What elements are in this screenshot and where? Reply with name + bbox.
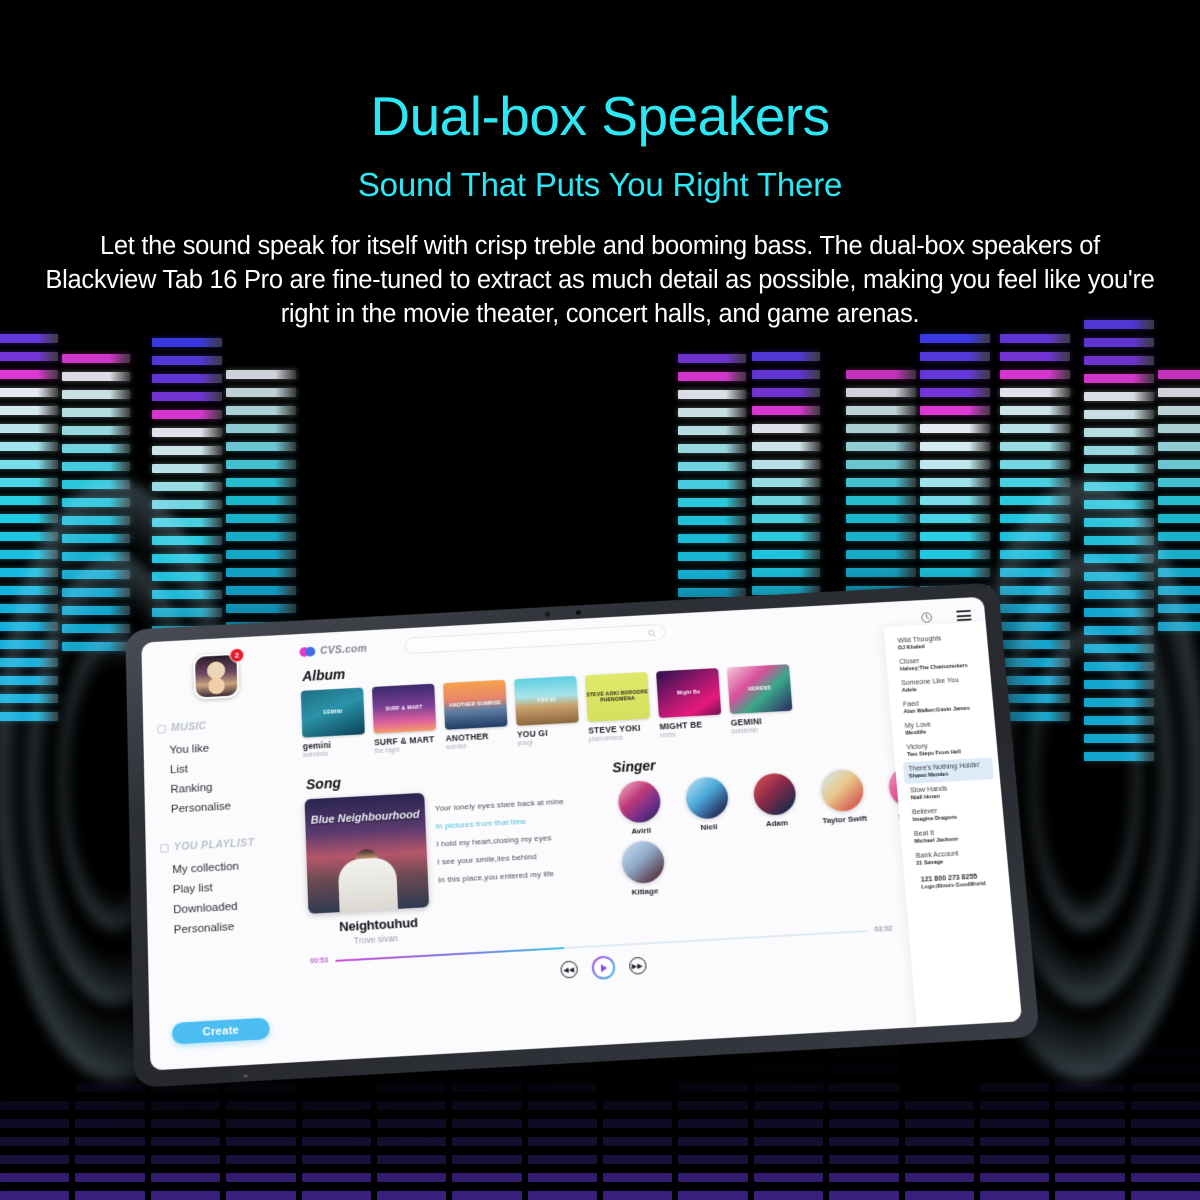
equalizer-bar [1084, 482, 1154, 491]
equalizer-bar [905, 1155, 974, 1164]
equalizer-bar [226, 1083, 295, 1092]
equalizer-bar [226, 1101, 295, 1110]
duration-time: 03:02 [874, 926, 893, 934]
equalizer-bar [226, 1191, 295, 1200]
equalizer-bar [1158, 514, 1200, 523]
equalizer-bar [752, 514, 820, 523]
equalizer-bar [846, 442, 916, 451]
equalizer-bar [1084, 608, 1154, 617]
equalizer-bar [1055, 1065, 1124, 1074]
album-cover[interactable]: GEMINI [301, 688, 365, 738]
lyric-line: I see your smile,lies behind [437, 849, 598, 867]
equalizer-bar [752, 406, 820, 415]
app-sidebar: 2 MUSICYou likeListRankingPersonaliseYOU… [141, 635, 303, 1071]
equalizer-bar [603, 1191, 672, 1200]
lyric-line: Your lonely eyes stare back at mine [435, 795, 595, 813]
equalizer-bar [226, 460, 296, 469]
equalizer-bar [226, 550, 296, 559]
equalizer-bar [62, 606, 130, 615]
sidebar-heading-1: YOU PLAYLIST [160, 835, 296, 854]
singer-card[interactable]: Taylor Swift [814, 768, 872, 825]
equalizer-bar [0, 604, 58, 613]
equalizer-bar [846, 370, 916, 379]
equalizer-bar [377, 1119, 446, 1128]
equalizer-bar [846, 388, 916, 397]
equalizer-bar [377, 1137, 446, 1146]
equalizer-bar [0, 460, 58, 469]
equalizer-bar [452, 1191, 521, 1200]
equalizer-bar [920, 478, 990, 487]
equalizer-bar [752, 496, 820, 505]
equalizer-bar [1084, 428, 1154, 437]
lyric-line: In this place,you entered my life [438, 867, 599, 885]
singer-name: Kitiage [618, 886, 673, 898]
sidebar-heading-0: MUSIC [157, 716, 292, 735]
music-app: 2 MUSICYou likeListRankingPersonaliseYOU… [141, 597, 1022, 1071]
equalizer-bar [152, 428, 222, 437]
equalizer-bar [1158, 568, 1200, 577]
playlist-icon [160, 843, 169, 852]
singer-avatar[interactable] [617, 780, 661, 824]
singer-name: Taylor Swift [817, 814, 872, 826]
equalizer-bar [920, 406, 990, 415]
song-cover-art[interactable]: Blue Neighbourhood [305, 793, 430, 914]
equalizer-bar [0, 1191, 69, 1200]
equalizer-bar [1084, 716, 1154, 725]
equalizer-bar [752, 388, 820, 397]
equalizer-bar [0, 1137, 69, 1146]
equalizer-bar [920, 532, 990, 541]
equalizer-bar [920, 424, 990, 433]
equalizer-bar [152, 554, 222, 563]
singer-card[interactable]: Kitiage [615, 840, 672, 898]
sensor-dot-icon [545, 612, 550, 617]
equalizer-bar [752, 370, 820, 379]
equalizer-bar [846, 460, 916, 469]
equalizer-bar [528, 1119, 597, 1128]
equalizer-bar [1158, 532, 1200, 541]
equalizer-bar [1084, 590, 1154, 599]
equalizer-bar [62, 642, 130, 651]
equalizer-bar [603, 1119, 672, 1128]
equalizer-bar [1000, 388, 1070, 397]
singer-card[interactable]: Adam [746, 772, 804, 829]
tablet-device: 2 MUSICYou likeListRankingPersonaliseYOU… [130, 600, 1020, 1060]
equalizer-bar [829, 1119, 898, 1128]
song-cover-title: Blue Neighbourhood [311, 809, 420, 827]
equalizer-bar [452, 1173, 521, 1182]
equalizer-bar [752, 550, 820, 559]
album-cover[interactable]: STEVE AOKI BOROORE PHENOMENA [585, 672, 650, 722]
album-card[interactable]: GEMINIgeminiswimmin [301, 688, 366, 760]
equalizer-bar [0, 388, 58, 397]
equalizer-bar [1131, 1047, 1200, 1056]
equalizer-bar [151, 1155, 220, 1164]
equalizer-bar [1131, 1137, 1200, 1146]
equalizer-bar [75, 1155, 144, 1164]
equalizer-bar [754, 1137, 823, 1146]
equalizer-bar [0, 532, 58, 541]
equalizer-bar [62, 372, 130, 381]
equalizer-bar [752, 442, 820, 451]
equalizer-bar [1000, 352, 1070, 361]
equalizer-bar [152, 392, 222, 401]
equalizer-bar [846, 424, 916, 433]
equalizer-bar [152, 500, 222, 509]
equalizer-bar [1000, 478, 1070, 487]
music-note-icon [157, 724, 166, 733]
equalizer-bar [752, 424, 820, 433]
equalizer-bar [1084, 734, 1154, 743]
equalizer-bar [1158, 370, 1200, 379]
album-cover[interactable]: Might Be [656, 668, 721, 718]
create-button[interactable]: Create [172, 1018, 270, 1045]
equalizer-bar [1000, 334, 1070, 343]
equalizer-bar [62, 552, 130, 561]
equalizer-column [1084, 320, 1154, 770]
elapsed-time: 00:53 [310, 957, 328, 965]
equalizer-bar [0, 334, 58, 343]
equalizer-bar [62, 516, 130, 525]
equalizer-bar [152, 410, 222, 419]
equalizer-bar [62, 570, 130, 579]
equalizer-bar [754, 1155, 823, 1164]
front-camera-icon [574, 609, 582, 616]
lyric-line: In pictures from that time [435, 813, 595, 831]
equalizer-bar [1084, 572, 1154, 581]
equalizer-bar [152, 446, 222, 455]
equalizer-bar [226, 496, 296, 505]
equalizer-bar [1084, 464, 1154, 473]
equalizer-bar [1000, 442, 1070, 451]
equalizer-bar [678, 480, 746, 489]
equalizer-bar [1000, 514, 1070, 523]
equalizer-bar [0, 622, 58, 631]
equalizer-bar [528, 1083, 597, 1092]
album-cover-text: STEVE AOKI BOROORE PHENOMENA [586, 689, 649, 704]
equalizer-bar [829, 1065, 898, 1074]
equalizer-bar [75, 1191, 144, 1200]
equalizer-bar [829, 1083, 898, 1092]
equalizer-bar [603, 1173, 672, 1182]
singer-avatar[interactable] [685, 776, 730, 820]
equalizer-bar [0, 1119, 69, 1128]
equalizer-bar [920, 370, 990, 379]
equalizer-bar [1084, 518, 1154, 527]
equalizer-bar [1000, 496, 1070, 505]
equalizer-bar [226, 406, 296, 415]
equalizer-bar [528, 1155, 597, 1164]
equalizer-bar [1000, 532, 1070, 541]
equalizer-bar [678, 498, 746, 507]
equalizer-bar [377, 1155, 446, 1164]
equalizer-bar [0, 586, 58, 595]
equalizer-bar [302, 1155, 371, 1164]
equalizer-bar [1131, 1065, 1200, 1074]
equalizer-bar [846, 514, 916, 523]
equalizer-bar [1131, 1173, 1200, 1182]
equalizer-bar [920, 514, 990, 523]
singer-name: Adam [750, 817, 804, 829]
equalizer-bar [1084, 374, 1154, 383]
equalizer-bar [75, 1173, 144, 1182]
equalizer-bar [754, 1191, 823, 1200]
equalizer-bar [1055, 1119, 1124, 1128]
equalizer-bar [0, 676, 58, 685]
equalizer-bar [1131, 1191, 1200, 1200]
equalizer-bar [226, 1173, 295, 1182]
equalizer-bar [1084, 662, 1154, 671]
equalizer-bar [1000, 370, 1070, 379]
equalizer-bar [754, 1083, 823, 1092]
equalizer-bar [1158, 406, 1200, 415]
equalizer-bar [151, 1137, 220, 1146]
equalizer-bar [377, 1173, 446, 1182]
equalizer-bar [75, 1083, 144, 1092]
equalizer-bar [1084, 536, 1154, 545]
equalizer-bar [226, 1155, 295, 1164]
equalizer-bar [678, 372, 746, 381]
equalizer-bar [1055, 1083, 1124, 1092]
equalizer-bar [0, 424, 58, 433]
singer-name: Aviril [614, 825, 668, 837]
equalizer-bar [678, 1173, 747, 1182]
singer-avatar[interactable] [621, 840, 666, 884]
app-logo[interactable]: CVS.com [299, 642, 367, 657]
equalizer-bar [528, 1065, 597, 1074]
equalizer-bar [377, 1101, 446, 1110]
hero-text-block: Dual-box Speakers Sound That Puts You Ri… [0, 0, 1200, 331]
singer-avatar[interactable] [820, 769, 865, 813]
album-card[interactable]: STEVE AOKI BOROORE PHENOMENASTEVE YOKIph… [585, 672, 651, 743]
equalizer-bar [678, 1137, 747, 1146]
album-cover[interactable]: ANOTHER SUNRISE [443, 680, 508, 730]
equalizer-bar [62, 426, 130, 435]
equalizer-bar [62, 408, 130, 417]
equalizer-bar [920, 496, 990, 505]
equalizer-bar [1055, 1155, 1124, 1164]
menu-icon[interactable] [956, 610, 972, 621]
song-column: Song Blue Neighbourhood Your lonely eyes… [303, 752, 600, 915]
equalizer-bar [62, 588, 130, 597]
equalizer-bar [920, 334, 990, 343]
equalizer-bar [1158, 550, 1200, 559]
equalizer-bar [678, 534, 746, 543]
equalizer-bar [678, 1119, 747, 1128]
equalizer-bar [0, 694, 58, 703]
notification-badge: 2 [229, 648, 244, 663]
equalizer-bar [1131, 1119, 1200, 1128]
singer-card[interactable]: Aviril [611, 779, 668, 836]
album-cover-text: GEMINI [323, 709, 343, 716]
equalizer-bar [226, 1137, 295, 1146]
tablet-frame: 2 MUSICYou likeListRankingPersonaliseYOU… [125, 583, 1040, 1088]
equalizer-bar [452, 1137, 521, 1146]
equalizer-bar [0, 640, 58, 649]
previous-button[interactable]: ◀◀ [560, 961, 578, 979]
equalizer-bar [0, 514, 58, 523]
equalizer-bar [62, 498, 130, 507]
equalizer-column [0, 334, 58, 730]
equalizer-bar [829, 1173, 898, 1182]
equalizer-bar [905, 1191, 974, 1200]
equalizer-bar [1055, 1173, 1124, 1182]
equalizer-bar [226, 1119, 295, 1128]
equalizer-bar [528, 1101, 597, 1110]
equalizer-bar [752, 478, 820, 487]
equalizer-bar [0, 496, 58, 505]
album-cover[interactable]: YOU GI [514, 676, 579, 726]
equalizer-bar [1131, 1155, 1200, 1164]
search-input[interactable] [404, 624, 665, 655]
equalizer-bar [1158, 586, 1200, 595]
equalizer-bar [603, 1101, 672, 1110]
equalizer-bar [603, 1137, 672, 1146]
avatar[interactable]: 2 [193, 653, 240, 700]
equalizer-bar [980, 1119, 1049, 1128]
equalizer-column [62, 354, 130, 660]
equalizer-bar [980, 1191, 1049, 1200]
equalizer-bar [829, 1155, 898, 1164]
equalizer-bar [1084, 410, 1154, 419]
sidebar-heading-label: YOU PLAYLIST [174, 837, 255, 853]
album-card[interactable]: ANOTHER SUNRISEANOTHERsunrise [443, 680, 509, 752]
singer-card[interactable]: Nieli [679, 776, 736, 833]
cover-figure-icon [338, 857, 398, 912]
album-cover-text: YOU GI [537, 697, 556, 704]
equalizer-column [1158, 370, 1200, 640]
cvs-logo-icon [299, 646, 315, 656]
equalizer-bar [226, 532, 296, 541]
equalizer-bar [1158, 604, 1200, 613]
equalizer-bar [0, 478, 58, 487]
equalizer-bar [151, 1101, 220, 1110]
equalizer-bar [62, 480, 130, 489]
equalizer-bar [829, 1191, 898, 1200]
equalizer-bar [905, 1119, 974, 1128]
equalizer-bar [0, 406, 58, 415]
equalizer-bar [905, 1173, 974, 1182]
album-cover[interactable]: HORENS [727, 664, 792, 714]
equalizer-bar [980, 1083, 1049, 1092]
equalizer-bar [0, 568, 58, 577]
singer-avatar[interactable] [752, 772, 797, 816]
equalizer-bar [152, 536, 222, 545]
playlist-panel: Wild ThoughtsDJ KhaledCloserHalsey;The C… [884, 622, 1022, 1028]
equalizer-bar [1084, 500, 1154, 509]
equalizer-bar [62, 354, 130, 363]
album-card[interactable]: YOU GIYOU GIyougi [514, 676, 580, 747]
logo-label: CVS.com [320, 642, 367, 656]
equalizer-bar [1158, 478, 1200, 487]
equalizer-bar [980, 1173, 1049, 1182]
equalizer-bar [0, 1101, 69, 1110]
equalizer-bar [0, 370, 58, 379]
equalizer-bar [302, 1101, 371, 1110]
equalizer-bar [152, 464, 222, 473]
equalizer-bar [920, 550, 990, 559]
equalizer-bar [754, 1119, 823, 1128]
equalizer-bar [678, 588, 746, 597]
equalizer-bar [1131, 1101, 1200, 1110]
equalizer-bar [754, 1101, 823, 1110]
equalizer-bar [62, 444, 130, 453]
equalizer-bar [1084, 680, 1154, 689]
equalizer-bar [905, 1101, 974, 1110]
equalizer-bar [678, 1191, 747, 1200]
lyrics-list: Your lonely eyes stare back at mineIn pi… [434, 783, 600, 906]
equalizer-bar [678, 552, 746, 561]
equalizer-bar [752, 532, 820, 541]
equalizer-bar [905, 1137, 974, 1146]
equalizer-bar [0, 1155, 69, 1164]
equalizer-bar [1084, 554, 1154, 563]
equalizer-bar [1158, 388, 1200, 397]
equalizer-bar [1158, 424, 1200, 433]
equalizer-bar [152, 374, 222, 383]
equalizer-bar [678, 1083, 747, 1092]
equalizer-bar [846, 532, 916, 541]
app-main: CVS.com [289, 597, 1022, 1062]
equalizer-bar [226, 442, 296, 451]
equalizer-bar [226, 514, 296, 523]
equalizer-bar [1055, 1137, 1124, 1146]
playlist-footer: 121 800 273 8255 Logo;Illinois GoodWorld [912, 872, 1003, 891]
album-card[interactable]: SURF & MARTSURF & MARTthe night [372, 684, 437, 756]
album-cover-text: HORENS [748, 686, 771, 693]
album-card[interactable]: Might BeMIGHT BEremix [656, 668, 723, 739]
equalizer-bar [302, 1119, 371, 1128]
equalizer-bar [452, 1155, 521, 1164]
equalizer-bar [152, 338, 222, 347]
equalizer-bar [920, 388, 990, 397]
equalizer-bar [1158, 442, 1200, 451]
mic-dot-icon [243, 1074, 247, 1077]
equalizer-bar [920, 460, 990, 469]
equalizer-bar [846, 478, 916, 487]
page-subtitle: Sound That Puts You Right There [0, 166, 1200, 204]
equalizer-bar [980, 1155, 1049, 1164]
equalizer-bar [62, 390, 130, 399]
equalizer-bar [1000, 406, 1070, 415]
page-title: Dual-box Speakers [0, 88, 1200, 146]
equalizer-bar [1055, 1101, 1124, 1110]
equalizer-bar [226, 586, 296, 595]
equalizer-bar [62, 462, 130, 471]
equalizer-bar [152, 518, 222, 527]
singer-name: Nieli [682, 821, 736, 833]
history-icon[interactable] [920, 611, 934, 624]
album-cover[interactable]: SURF & MART [372, 684, 436, 734]
promo-banner: Dual-box Speakers Sound That Puts You Ri… [0, 0, 1200, 1200]
equalizer-bar [1158, 460, 1200, 469]
equalizer-bar [1084, 392, 1154, 401]
equalizer-bar [452, 1119, 521, 1128]
equalizer-bar [1158, 496, 1200, 505]
album-card[interactable]: HORENSGEMINIswishmin [727, 664, 794, 735]
playlist-item[interactable]: Bank Account21 Savage [910, 844, 1002, 871]
equalizer-bar [152, 482, 222, 491]
equalizer-bar [1084, 356, 1154, 365]
equalizer-bar [678, 570, 746, 579]
equalizer-bar [829, 1101, 898, 1110]
play-button[interactable] [591, 955, 616, 980]
next-button[interactable]: ▶▶ [628, 957, 646, 975]
equalizer-bar [1000, 568, 1070, 577]
search-icon [647, 629, 656, 638]
equalizer-bar [678, 462, 746, 471]
play-icon [601, 963, 608, 971]
